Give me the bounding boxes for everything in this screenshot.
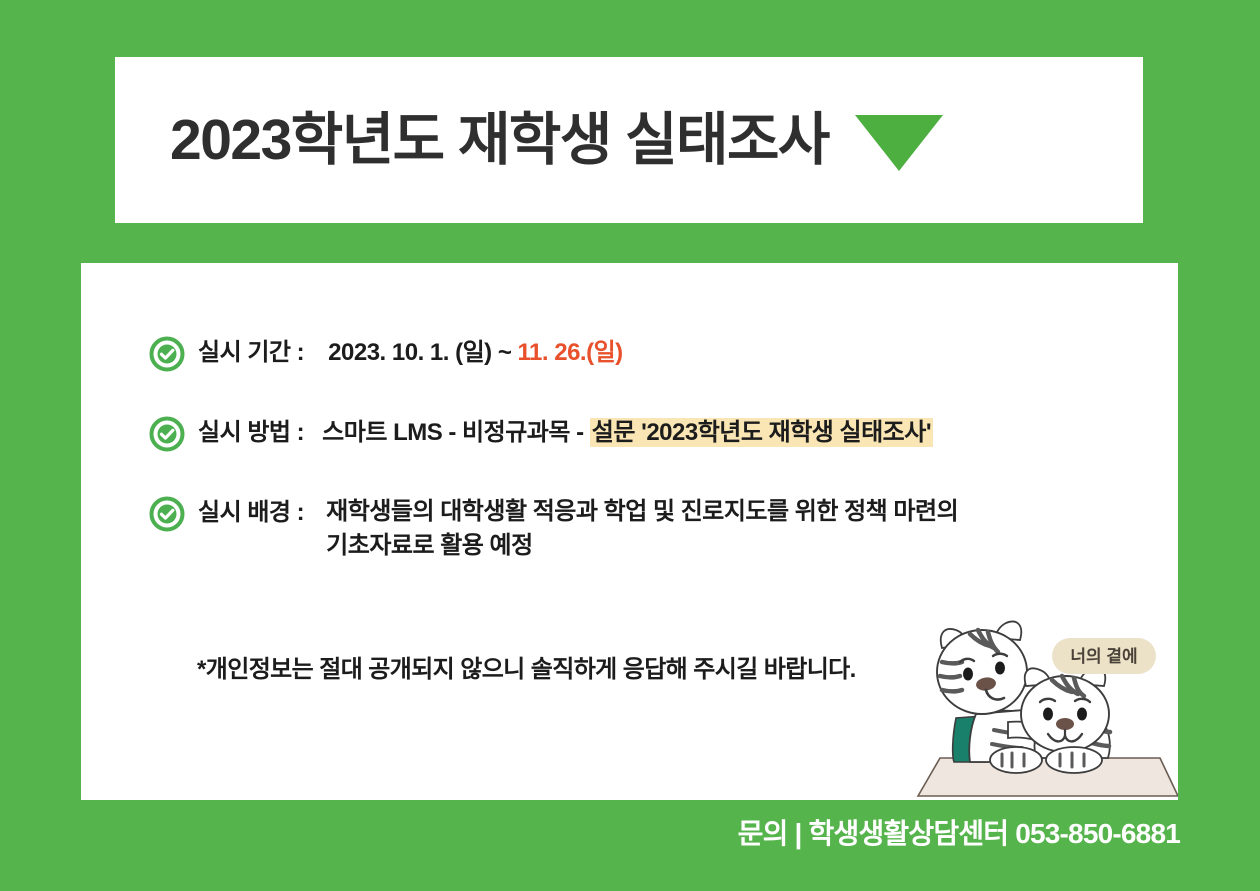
- info-row-label: 실시 기간 :: [198, 335, 304, 371]
- tiger-mascots-illustration: 너의 곁에: [912, 610, 1178, 800]
- check-circle-icon: [149, 416, 185, 452]
- info-row-value: 재학생들의 대학생활 적응과 학업 및 진로지도를 위한 정책 마련의 기초자료…: [326, 495, 958, 563]
- check-circle-icon: [149, 336, 185, 372]
- triangle-down-icon: [855, 115, 943, 171]
- background-line-2: 기초자료로 활용 예정: [326, 529, 958, 563]
- background-line-1: 재학생들의 대학생활 적응과 학업 및 진로지도를 위한 정책 마련의: [326, 495, 958, 529]
- period-plain-text: 2023. 10. 1. (일) ~: [328, 339, 517, 366]
- footer-contact: 문의 | 학생생활상담센터 053-850-6881: [0, 812, 1180, 852]
- info-row-period: 실시 기간 : 2023. 10. 1. (일) ~ 11. 26.(일): [149, 335, 1149, 372]
- speech-bubble-text: 너의 곁에: [1070, 647, 1137, 666]
- main-content-panel: 실시 기간 : 2023. 10. 1. (일) ~ 11. 26.(일) 실시…: [81, 263, 1178, 800]
- info-rows: 실시 기간 : 2023. 10. 1. (일) ~ 11. 26.(일) 실시…: [149, 335, 1149, 563]
- info-row-background: 실시 배경 : 재학생들의 대학생활 적응과 학업 및 진로지도를 위한 정책 …: [149, 495, 1149, 563]
- info-row-value: 스마트 LMS - 비정규과목 - 설문 '2023학년도 재학생 실태조사': [322, 415, 933, 451]
- info-row-label: 실시 배경 :: [198, 495, 304, 531]
- info-row-value: 2023. 10. 1. (일) ~ 11. 26.(일): [328, 335, 623, 371]
- method-survey-name: 설문 '2023학년도 재학생 실태조사': [590, 418, 933, 447]
- info-row-method: 실시 방법 : 스마트 LMS - 비정규과목 - 설문 '2023학년도 재학…: [149, 415, 1149, 452]
- privacy-note: *개인정보는 절대 공개되지 않으니 솔직하게 응답해 주시길 바랍니다.: [197, 649, 856, 684]
- period-end-date: 11. 26.(일): [518, 339, 623, 366]
- page-title: 2023학년도 재학생 실태조사: [170, 112, 829, 169]
- check-circle-icon: [149, 496, 185, 532]
- method-path-text: 스마트 LMS - 비정규과목 -: [322, 419, 590, 446]
- info-row-label: 실시 방법 :: [198, 415, 304, 451]
- title-bar: 2023학년도 재학생 실태조사: [115, 57, 1143, 223]
